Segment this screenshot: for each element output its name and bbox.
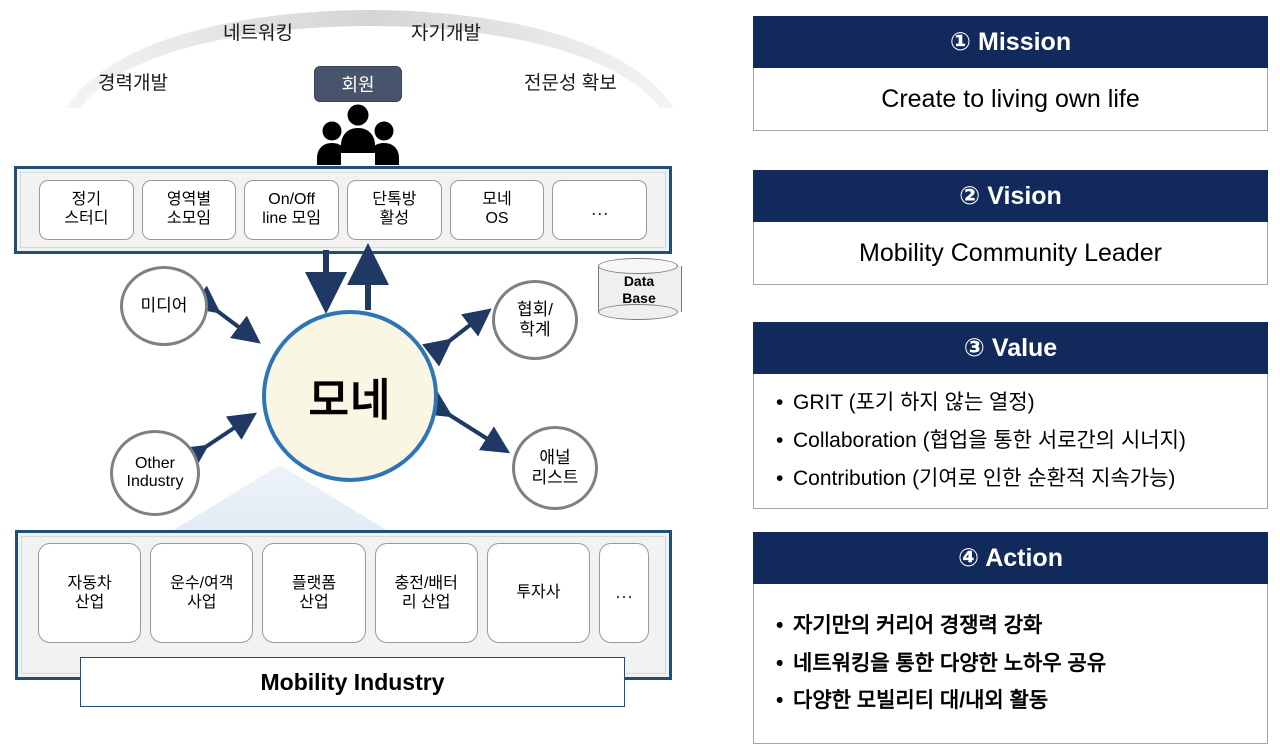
arc-label-networking: 네트워킹 [223, 18, 293, 45]
card-vision-title: ② Vision [753, 170, 1268, 222]
card-mission: ① Mission Create to living own life [753, 16, 1268, 131]
mobility-industry-banner: Mobility Industry [80, 657, 625, 707]
center-node-label: 모네 [309, 364, 392, 428]
industry-line1: 충전/배터 [395, 574, 458, 593]
community-diagram: 네트워킹 자기개발 경력개발 전문성 확보 회원 정기 스터디 영역별 소모임 … [0, 0, 740, 738]
card-value: ③ Value • GRIT (포기 하지 않는 열정) • Collabora… [753, 322, 1268, 509]
satellite-line2: Industry [127, 473, 184, 491]
satellite-media[interactable]: 미디어 [120, 266, 208, 346]
value-bullet: • Contribution (기여로 인한 순환적 지속가능) [776, 464, 1251, 494]
industry-line1: 자동차 [68, 574, 112, 593]
bullet-icon: • [776, 464, 793, 494]
bullet-icon: • [776, 649, 793, 679]
industry-line2: 산업 [75, 593, 104, 612]
value-bullet: • Collaboration (협업을 통한 서로간의 시너지) [776, 426, 1251, 456]
industry-line1: 투자사 [516, 583, 560, 602]
satellite-association[interactable]: 협회/ 학계 [492, 280, 578, 360]
bullet-icon: • [776, 611, 793, 641]
satellite-line2: 학계 [519, 320, 550, 340]
industry-line1: … [615, 582, 634, 605]
industry-line2: 리 산업 [402, 593, 451, 612]
industry-line2: 사업 [187, 593, 216, 612]
arc-label-expertise: 전문성 확보 [524, 68, 617, 95]
action-bullet-text: 네트워킹을 통한 다양한 노하우 공유 [793, 649, 1106, 679]
center-node-mone[interactable]: 모네 [262, 310, 438, 482]
card-vision-text: Mobility Community Leader [859, 239, 1162, 268]
industry-chip[interactable]: 투자사 [487, 543, 590, 643]
industry-line1: 플랫폼 [292, 574, 336, 593]
action-bullet: • 네트워킹을 통한 다양한 노하우 공유 [776, 649, 1251, 679]
member-badge: 회원 [314, 66, 402, 102]
industry-chip[interactable]: 충전/배터 리 산업 [375, 543, 478, 643]
satellite-line1: Other [135, 455, 175, 473]
satellite-line1: 협회/ [517, 300, 553, 320]
value-bullet-text: GRIT (포기 하지 않는 열정) [793, 388, 1035, 418]
action-bullet: • 다양한 모빌리티 대/내외 활동 [776, 686, 1251, 716]
industry-row: 자동차 산업 운수/여객 사업 플랫폼 산업 충전/배터 리 산업 투자사 … [18, 543, 669, 643]
bullet-icon: • [776, 426, 793, 456]
card-action: ④ Action • 자기만의 커리어 경쟁력 강화 • 네트워킹을 통한 다양… [753, 532, 1268, 744]
card-vision-body: Mobility Community Leader [753, 222, 1268, 285]
satellite-line2: 리스트 [532, 468, 579, 488]
bullet-icon: • [776, 686, 793, 716]
industry-chip[interactable]: 플랫폼 산업 [262, 543, 365, 643]
card-vision: ② Vision Mobility Community Leader [753, 170, 1268, 285]
card-action-body: • 자기만의 커리어 경쟁력 강화 • 네트워킹을 통한 다양한 노하우 공유 … [753, 584, 1268, 744]
satellite-line1: 미디어 [141, 296, 188, 316]
action-bullet-text: 다양한 모빌리티 대/내외 활동 [793, 686, 1048, 716]
action-bullet: • 자기만의 커리어 경쟁력 강화 [776, 611, 1251, 641]
satellite-other-industry[interactable]: Other Industry [110, 430, 200, 516]
people-group-icon [315, 103, 401, 165]
action-bullet-text: 자기만의 커리어 경쟁력 강화 [793, 611, 1042, 641]
value-bullet: • GRIT (포기 하지 않는 열정) [776, 388, 1251, 418]
value-bullet-text: Contribution (기여로 인한 순환적 지속가능) [793, 464, 1175, 494]
mvva-panel: ① Mission Create to living own life ② Vi… [753, 0, 1268, 738]
value-bullet-text: Collaboration (협업을 통한 서로간의 시너지) [793, 426, 1186, 456]
card-value-title: ③ Value [753, 322, 1268, 374]
satellite-analyst[interactable]: 애널 리스트 [512, 426, 598, 510]
card-value-body: • GRIT (포기 하지 않는 열정) • Collaboration (협업… [753, 374, 1268, 509]
satellite-line1: 애널 [539, 448, 570, 468]
arc-label-self-development: 자기개발 [411, 18, 481, 45]
industry-line2: 산업 [299, 593, 328, 612]
card-mission-text: Create to living own life [881, 85, 1139, 114]
bullet-icon: • [776, 388, 793, 418]
card-action-title: ④ Action [753, 532, 1268, 584]
industry-chip[interactable]: 자동차 산업 [38, 543, 141, 643]
card-mission-body: Create to living own life [753, 68, 1268, 131]
industry-line1: 운수/여객 [170, 574, 233, 593]
industry-chip[interactable]: 운수/여객 사업 [150, 543, 253, 643]
industry-chip-more[interactable]: … [599, 543, 649, 643]
arc-label-career-development: 경력개발 [98, 68, 168, 95]
card-mission-title: ① Mission [753, 16, 1268, 68]
